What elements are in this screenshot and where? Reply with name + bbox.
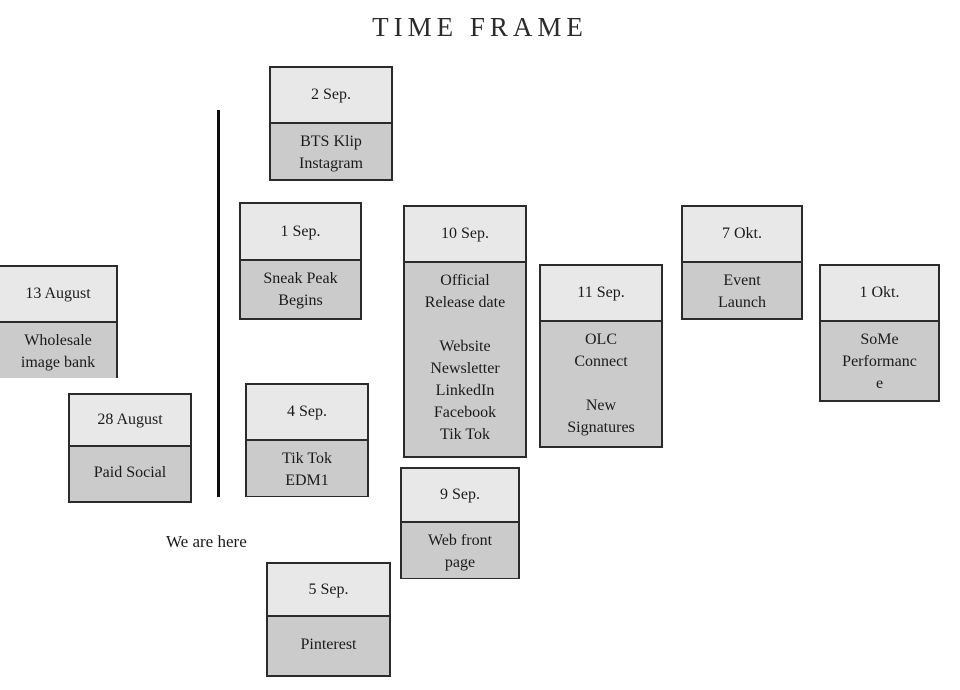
- milestone-body: OLC Connect New Signatures: [541, 322, 661, 446]
- milestone-date: 1 Sep.: [241, 204, 360, 261]
- milestone-2-sep[interactable]: 2 Sep.BTS Klip Instagram: [269, 66, 393, 181]
- we-are-here-label: We are here: [166, 532, 247, 552]
- milestone-4-sep[interactable]: 4 Sep.Tik Tok EDM1: [245, 383, 369, 497]
- milestone-5-sep[interactable]: 5 Sep.Pinterest: [266, 562, 391, 677]
- milestone-13-august[interactable]: 13 AugustWholesale image bank: [0, 265, 118, 378]
- milestone-9-sep[interactable]: 9 Sep.Web front page: [400, 467, 520, 579]
- milestone-date: 28 August: [70, 395, 190, 447]
- milestone-body: SoMe Performanc e: [821, 322, 938, 400]
- milestone-1-sep[interactable]: 1 Sep.Sneak Peak Begins: [239, 202, 362, 320]
- milestone-date: 13 August: [0, 267, 116, 323]
- milestone-date: 5 Sep.: [268, 564, 389, 617]
- milestone-date: 10 Sep.: [405, 207, 525, 263]
- milestone-date: 4 Sep.: [247, 385, 367, 441]
- milestone-1-okt[interactable]: 1 Okt.SoMe Performanc e: [819, 264, 940, 402]
- milestone-body: Wholesale image bank: [0, 323, 116, 378]
- milestone-body: Tik Tok EDM1: [247, 441, 367, 496]
- milestone-date: 9 Sep.: [402, 469, 518, 523]
- milestone-date: 1 Okt.: [821, 266, 938, 322]
- milestone-body: Event Launch: [683, 263, 801, 318]
- milestone-10-sep[interactable]: 10 Sep.Official Release date Website New…: [403, 205, 527, 458]
- milestone-body: Web front page: [402, 523, 518, 578]
- timeline-canvas: TIME FRAME We are here 13 AugustWholesal…: [0, 0, 960, 690]
- milestone-28-august[interactable]: 28 AugustPaid Social: [68, 393, 192, 503]
- milestone-body: Pinterest: [268, 617, 389, 675]
- milestone-body: BTS Klip Instagram: [271, 124, 391, 179]
- milestone-7-okt[interactable]: 7 Okt.Event Launch: [681, 205, 803, 320]
- milestone-11-sep[interactable]: 11 Sep.OLC Connect New Signatures: [539, 264, 663, 448]
- milestone-body: Paid Social: [70, 447, 190, 501]
- milestone-date: 11 Sep.: [541, 266, 661, 322]
- timeline-axis-line: [217, 110, 220, 497]
- milestone-body: Sneak Peak Begins: [241, 261, 360, 318]
- milestone-date: 7 Okt.: [683, 207, 801, 263]
- milestone-date: 2 Sep.: [271, 68, 391, 124]
- page-title: TIME FRAME: [0, 12, 960, 43]
- milestone-body: Official Release date Website Newsletter…: [405, 263, 525, 456]
